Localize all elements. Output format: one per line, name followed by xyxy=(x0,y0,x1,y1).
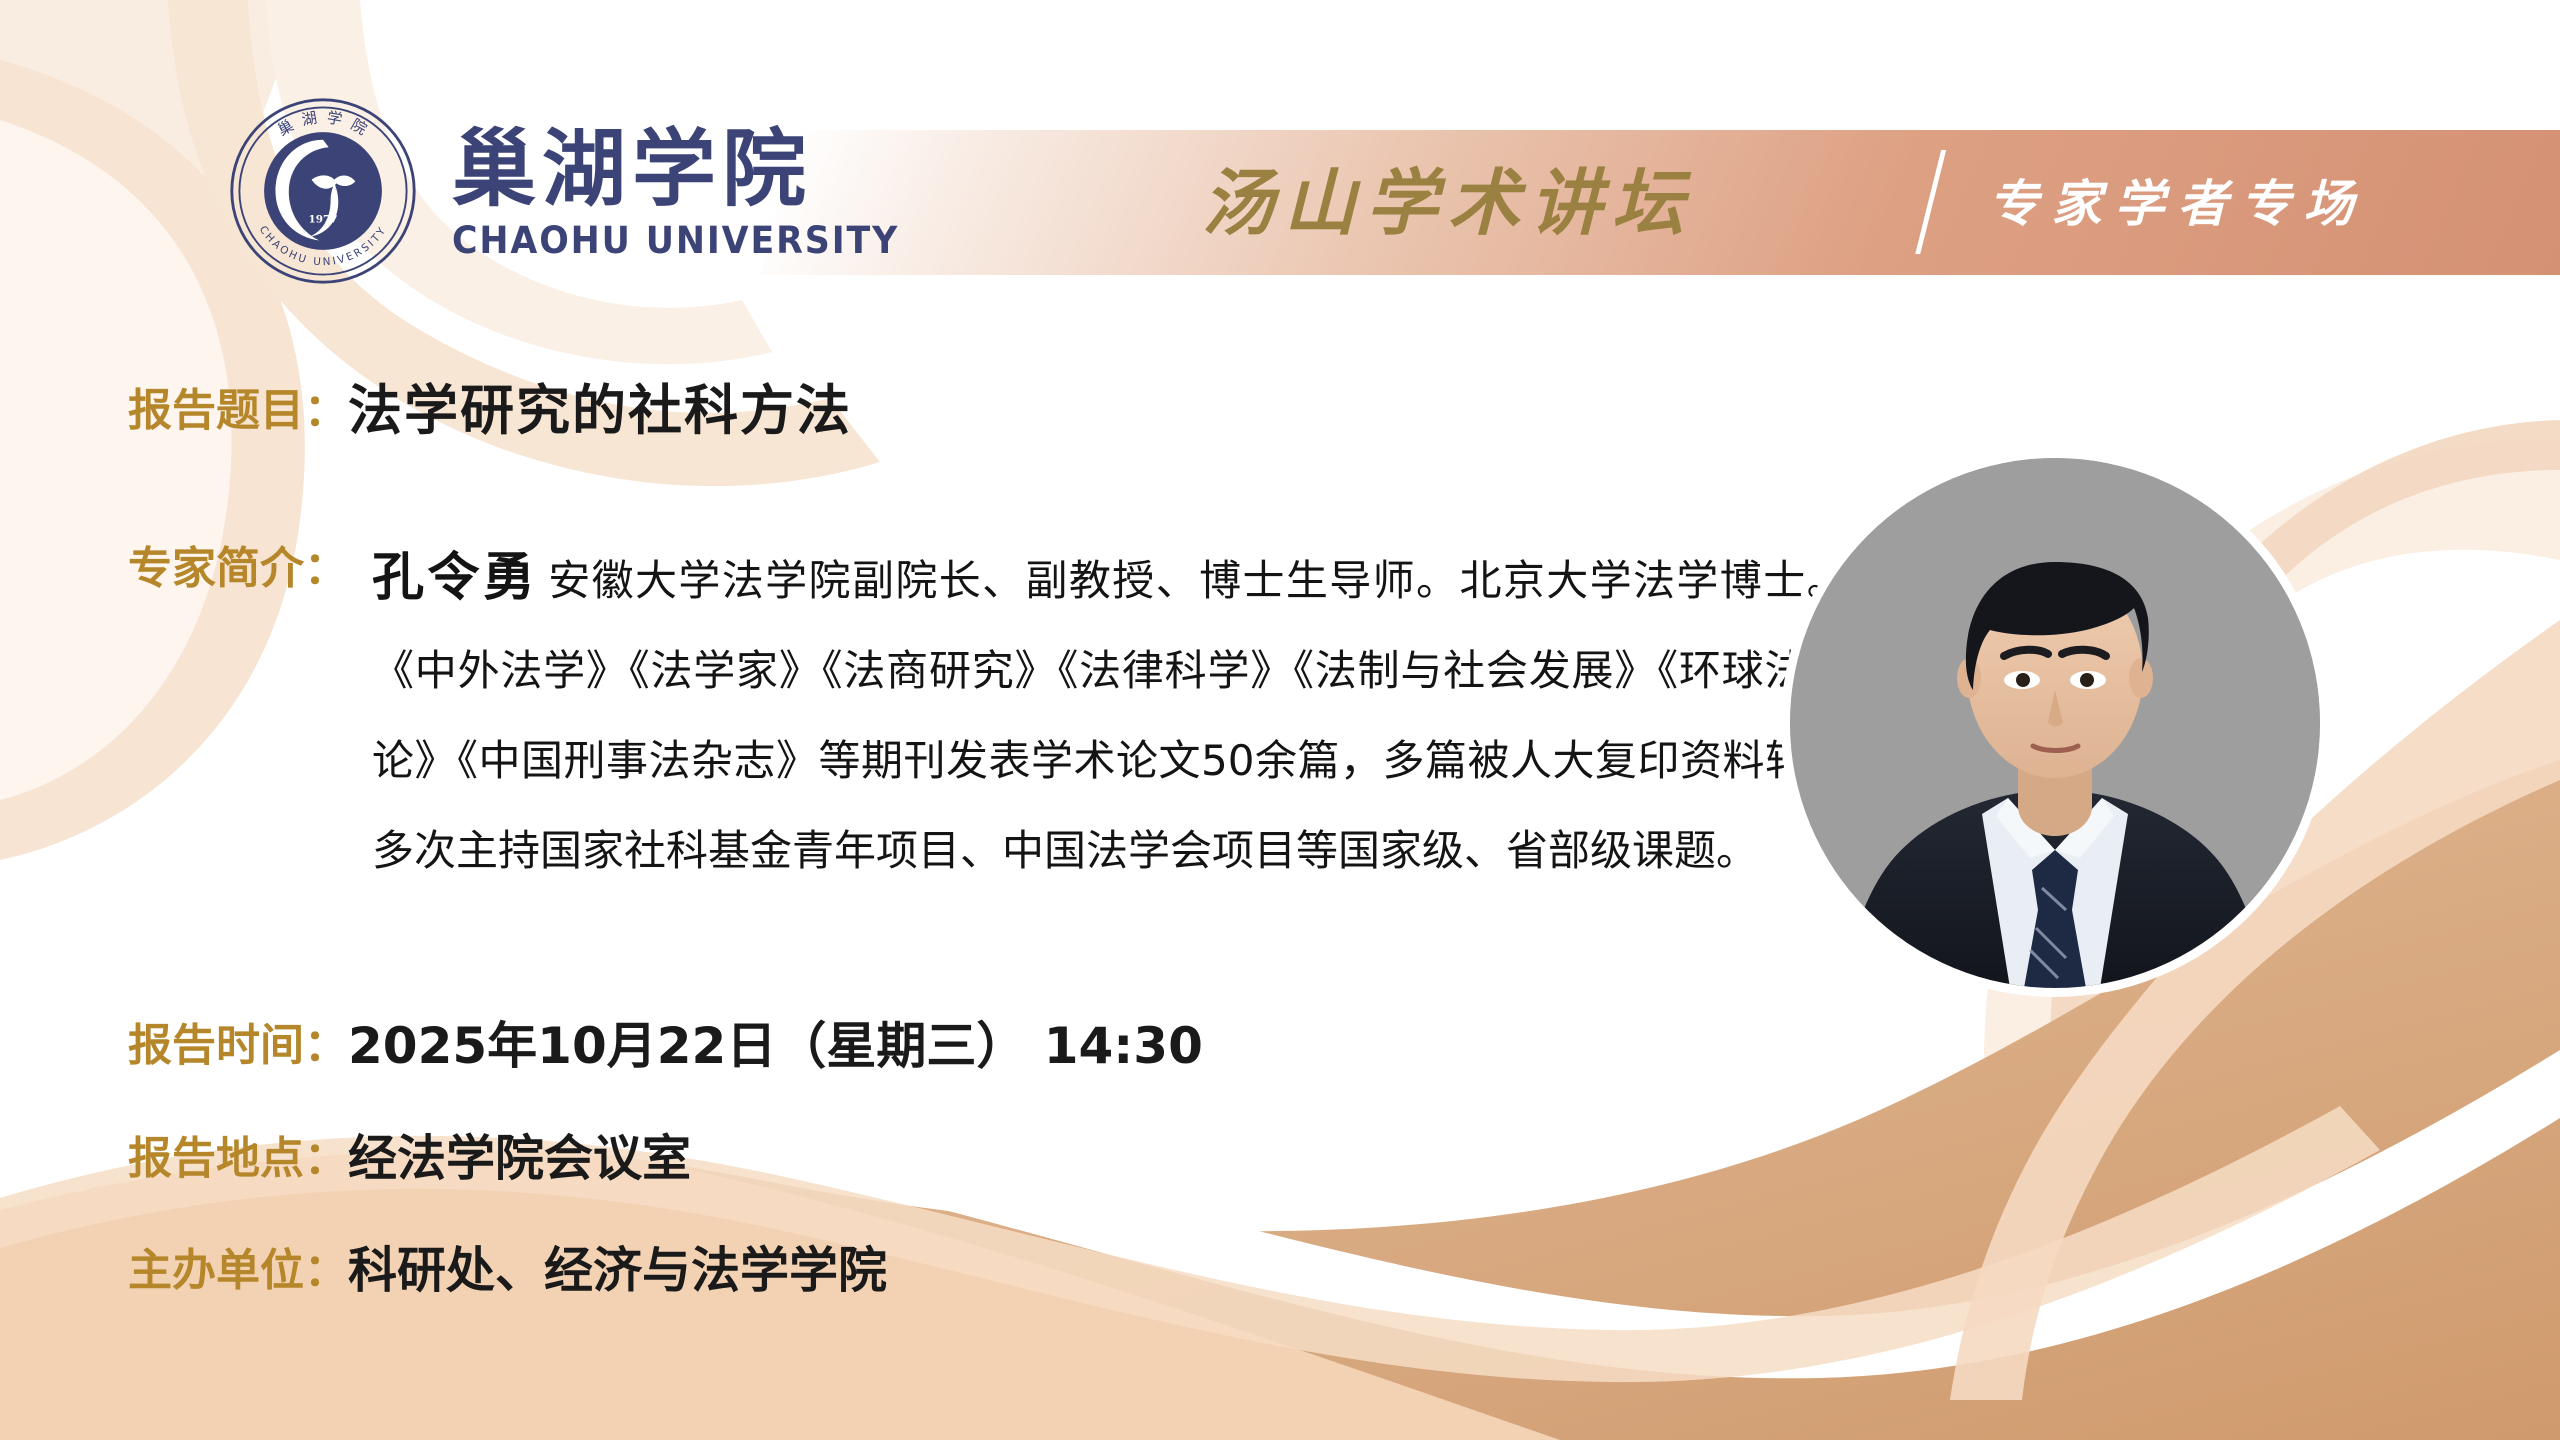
banner-title: 汤山学术讲坛 xyxy=(1194,148,1713,258)
university-logo-block: 1977 巢 湖 学 院 CHAOHU UNIVERSITY 巢湖学院 CHAO… xyxy=(228,96,928,286)
report-title-row: 报告题目： 法学研究的社科方法 xyxy=(128,380,852,442)
report-title-label: 报告题目： xyxy=(128,380,348,442)
expert-bio-label: 专家简介： xyxy=(128,538,348,600)
report-time-label: 报告时间： xyxy=(128,1015,348,1077)
report-place-label: 报告地点： xyxy=(128,1128,348,1190)
expert-bio-text: 安徽大学法学院副院长、副教授、博士生导师。北京大学法学博士。在《中外法学》《法学… xyxy=(372,556,1892,875)
expert-bio-body: 孔令勇安徽大学法学院副院长、副教授、博士生导师。北京大学法学博士。在《中外法学》… xyxy=(372,533,1892,896)
expert-name: 孔令勇 xyxy=(372,548,538,608)
report-place-row: 报告地点： 经法学院会议室 xyxy=(128,1128,691,1190)
wordmark-chinese: 巢湖学院 xyxy=(452,119,928,219)
expert-bio-row: 专家简介： 孔令勇安徽大学法学院副院长、副教授、博士生导师。北京大学法学博士。在… xyxy=(128,533,1888,896)
poster: 汤山学术讲坛 专家学者专场 xyxy=(0,0,2560,1440)
report-organizer-value: 科研处、经济与法学学院 xyxy=(348,1240,887,1302)
banner-subtitle: 专家学者专场 xyxy=(1981,158,2382,250)
report-organizer-label: 主办单位： xyxy=(128,1240,348,1302)
university-seal-icon: 1977 巢 湖 学 院 CHAOHU UNIVERSITY xyxy=(228,96,418,286)
wordmark-english: CHAOHU UNIVERSITY xyxy=(452,219,899,263)
report-place-value: 经法学院会议室 xyxy=(348,1128,691,1190)
report-title-value: 法学研究的社科方法 xyxy=(348,380,852,442)
speaker-portrait xyxy=(1790,458,2320,988)
banner-divider xyxy=(1915,150,1946,254)
speaker-portrait-image xyxy=(1790,458,2320,988)
poster-header: 汤山学术讲坛 专家学者专场 xyxy=(0,0,2560,300)
report-organizer-row: 主办单位： 科研处、经济与法学学院 xyxy=(128,1240,887,1302)
report-time-row: 报告时间： 2025年10月22日（星期三） 14:30 xyxy=(128,1015,1203,1077)
report-time-value: 2025年10月22日（星期三） 14:30 xyxy=(348,1015,1203,1077)
university-wordmark: 巢湖学院 CHAOHU UNIVERSITY xyxy=(452,119,928,263)
svg-text:1977: 1977 xyxy=(308,213,337,225)
banner-ribbon: 汤山学术讲坛 专家学者专场 xyxy=(760,130,2560,275)
